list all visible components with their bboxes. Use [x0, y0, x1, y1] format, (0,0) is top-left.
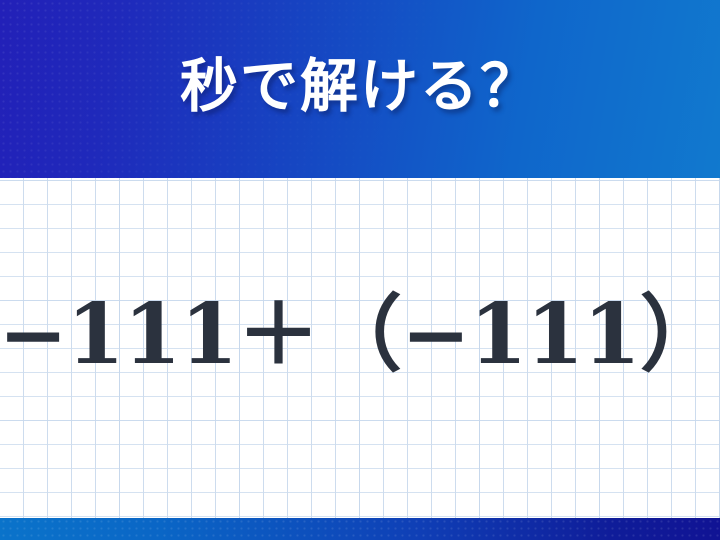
footer-banner: [0, 518, 720, 540]
header-banner: 秒で解ける？: [0, 0, 720, 178]
math-expression: −111＋（−111）: [0, 293, 720, 376]
expression-container: −111＋（−111）: [0, 178, 720, 518]
quiz-slide: 秒で解ける？ −111＋（−111）: [0, 0, 720, 540]
footer-dot-texture: [0, 518, 720, 540]
grid-paper-background: −111＋（−111）: [0, 178, 720, 518]
page-title: 秒で解ける？: [180, 58, 540, 120]
